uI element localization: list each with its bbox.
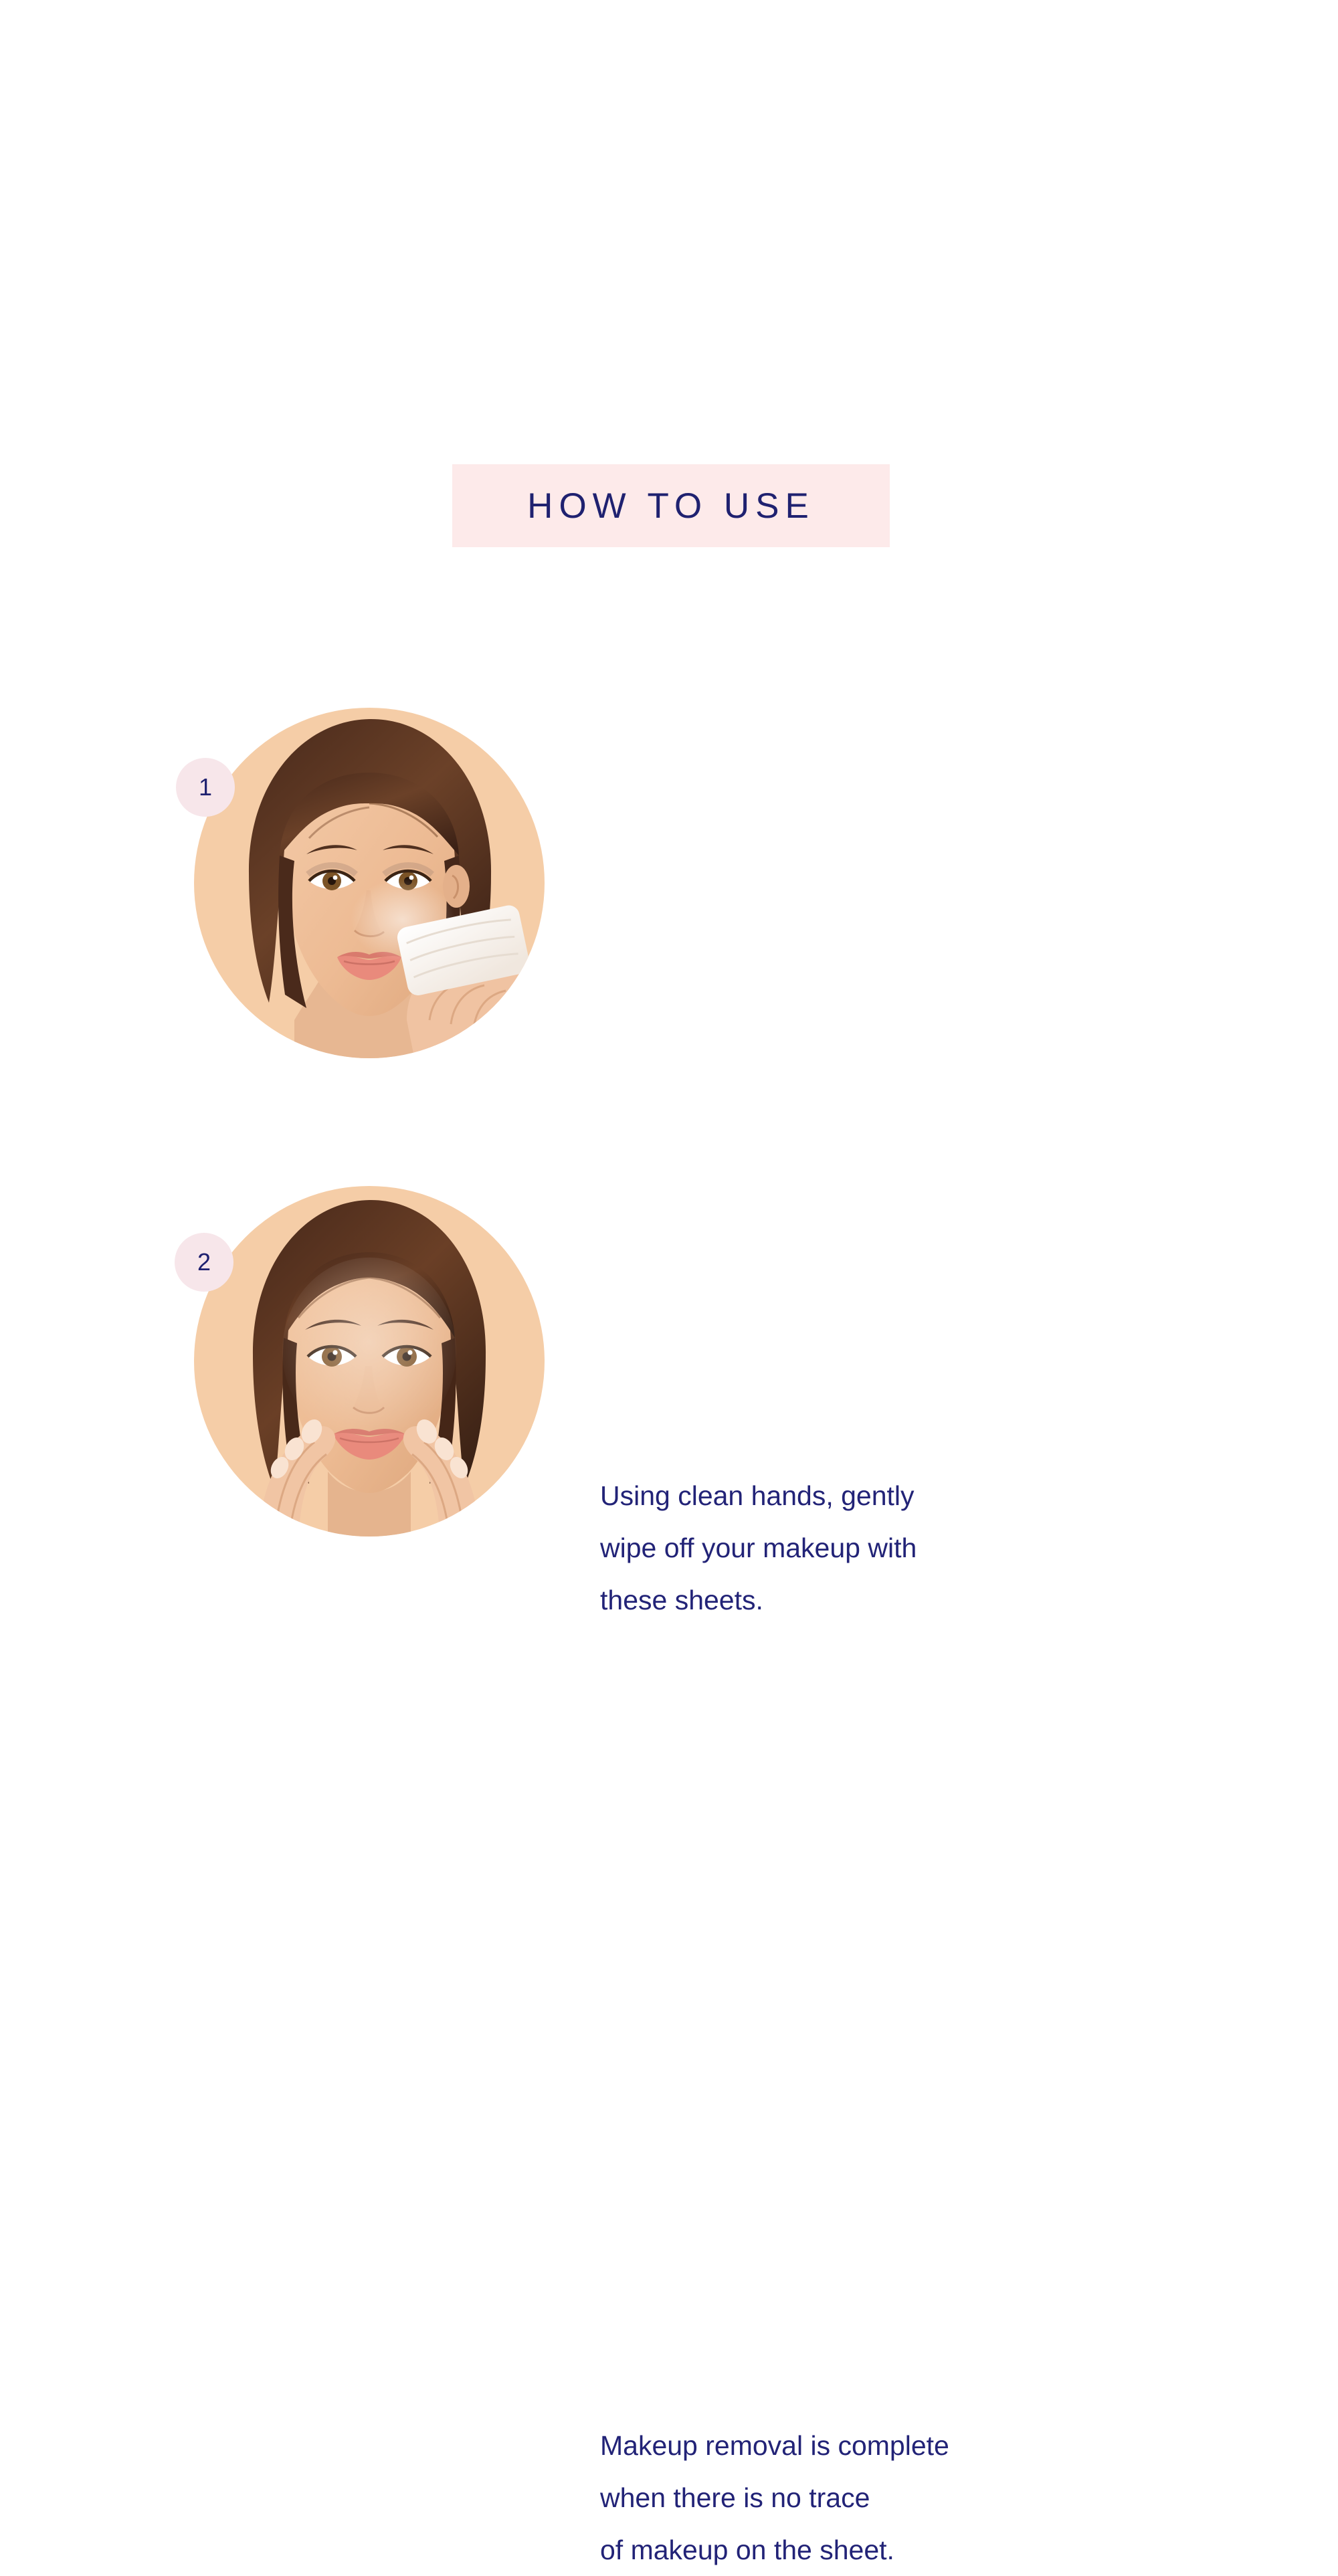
step-2-line-1: Makeup removal is complete	[600, 2419, 1216, 2472]
step-2-number-badge: 2	[175, 1233, 233, 1292]
step-2-line-2: when there is no trace	[600, 2472, 1216, 2524]
step-2-line-3: of makeup on the sheet.	[600, 2524, 1216, 2576]
how-to-use-page: HOW TO USE	[0, 0, 1338, 2007]
step-2-photo	[194, 1184, 545, 1539]
step-1: Using clean hands, gently wipe off your …	[0, 689, 1338, 1090]
step-2-text: Makeup removal is complete when there is…	[600, 2419, 1216, 2576]
step-1-line-3: these sheets.	[600, 1574, 1216, 1626]
woman-wiping-makeup-with-cotton-pad-photo	[194, 706, 545, 1060]
step-2-number: 2	[197, 1250, 211, 1274]
page-title: HOW TO USE	[527, 488, 815, 524]
woman-clean-face-hands-photo	[194, 1184, 545, 1539]
step-1-photo	[194, 706, 545, 1060]
step-2: Makeup removal is complete when there is…	[0, 1167, 1338, 1569]
step-1-number: 1	[199, 775, 212, 799]
how-to-use-banner: HOW TO USE	[452, 464, 890, 547]
step-1-number-badge: 1	[176, 758, 235, 817]
